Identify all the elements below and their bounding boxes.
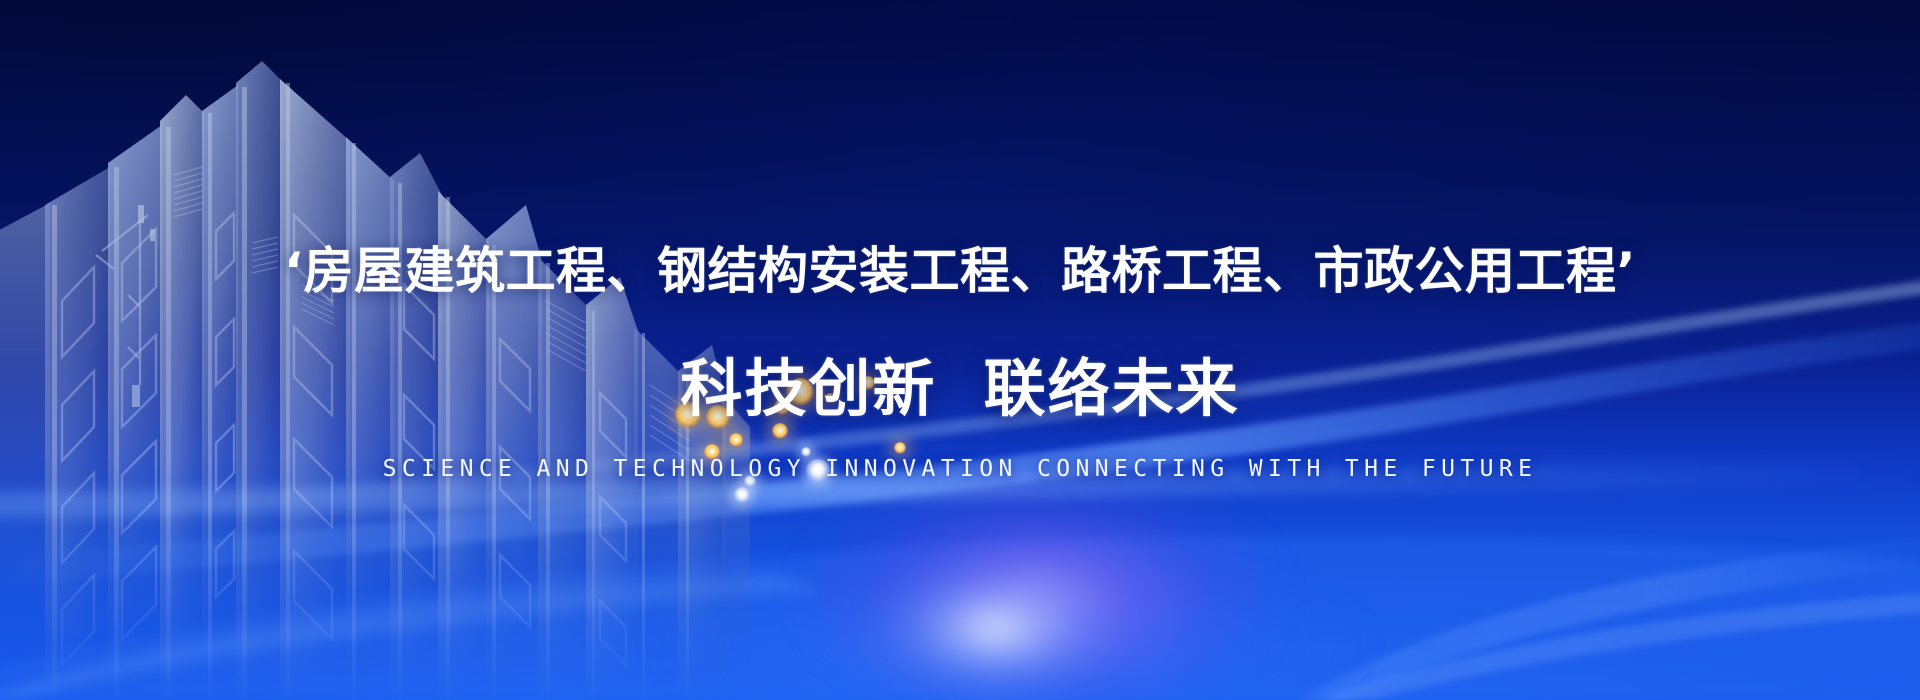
architecture-silhouette (0, 55, 750, 700)
hero-banner: ‘房屋建筑工程、钢结构安装工程、路桥工程、市政公用工程’ 科技创新 联络未来 S… (0, 0, 1920, 700)
